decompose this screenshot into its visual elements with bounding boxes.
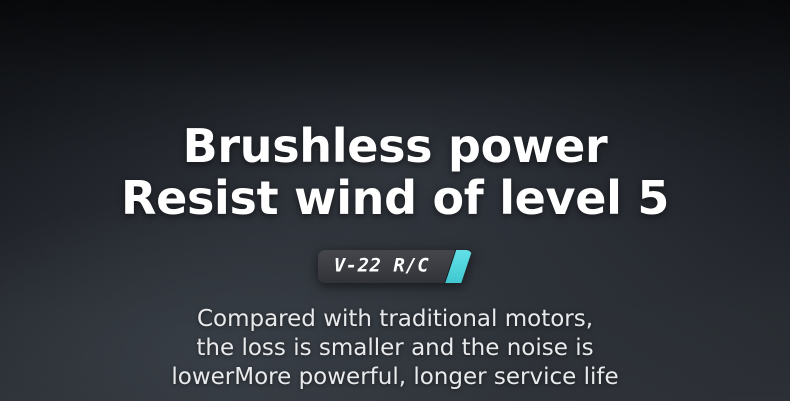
badge-label: V-22 R/C bbox=[334, 257, 430, 276]
product-feature-banner: Brushless power Resist wind of level 5 V… bbox=[0, 0, 790, 401]
badge-plate: V-22 R/C bbox=[318, 250, 456, 283]
subtitle-block: Compared with traditional motors, the lo… bbox=[171, 305, 618, 392]
headline-line-1: Brushless power bbox=[183, 120, 608, 172]
subtitle-line-1: Compared with traditional motors, bbox=[171, 305, 618, 334]
subtitle-line-3: lowerMore powerful, longer service life bbox=[171, 363, 618, 392]
subtitle-line-2: the loss is smaller and the noise is bbox=[171, 334, 618, 363]
headline-line-2: Resist wind of level 5 bbox=[121, 172, 669, 224]
banner-content: Brushless power Resist wind of level 5 V… bbox=[0, 0, 790, 401]
product-model-badge: V-22 R/C bbox=[318, 250, 473, 283]
